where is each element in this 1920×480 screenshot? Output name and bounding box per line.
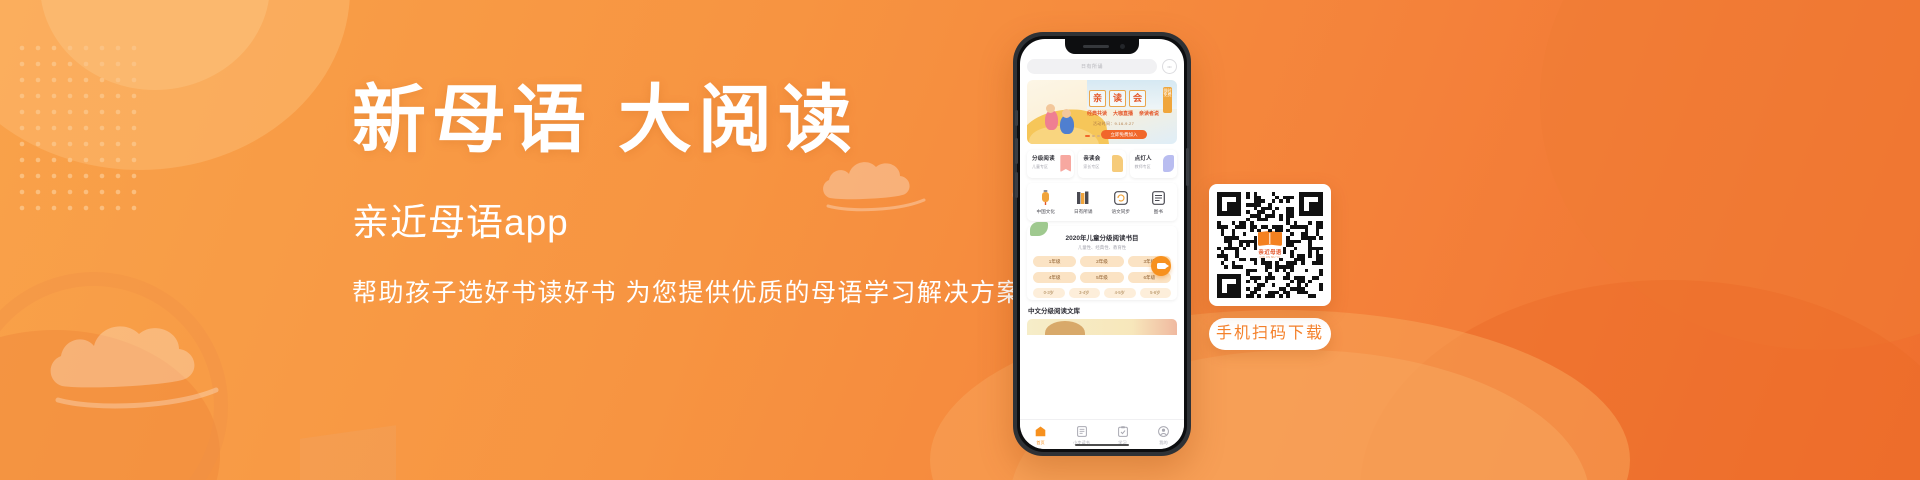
age-chip[interactable]: 5-6岁 bbox=[1140, 288, 1172, 298]
child-head-1 bbox=[1046, 104, 1055, 113]
promo-ribbon: 限时免费 bbox=[1163, 87, 1172, 113]
promo-subtitle-1: 经典共读 bbox=[1087, 110, 1107, 117]
promo-card[interactable]: 亲 读 会 限时免费 经典共读 大咖直播 亲读者说 活动时间：9.16-9.27… bbox=[1027, 80, 1177, 144]
promo-date: 活动时间：9.16-9.27 bbox=[1093, 121, 1134, 127]
quick-entry-chinese-culture[interactable]: 中国文化 bbox=[1027, 190, 1065, 215]
library-section: 中文分级阅读文库 bbox=[1027, 305, 1177, 335]
tab-reading[interactable]: 小步读书 bbox=[1061, 426, 1102, 446]
qr-finder-top-right bbox=[1299, 192, 1323, 216]
background-blob-top-left-2 bbox=[40, 0, 270, 90]
grade-chip[interactable]: 5年级 bbox=[1080, 272, 1123, 283]
booklist-title: 2020年儿童分级阅读书目 bbox=[1027, 232, 1177, 242]
page-icon bbox=[1112, 155, 1123, 172]
reading-icon bbox=[1061, 426, 1102, 438]
promo-cta-button[interactable]: 立即免费加入 bbox=[1101, 130, 1147, 139]
sync-icon bbox=[1102, 190, 1140, 206]
search-input[interactable]: 日有所诵 bbox=[1027, 59, 1157, 74]
promo-title: 亲 读 会 bbox=[1089, 90, 1146, 107]
power-button bbox=[1186, 148, 1189, 186]
quick-entry-label: 图书 bbox=[1140, 209, 1178, 215]
hero-tagline: 帮助孩子选好书读好书 为您提供优质的母语学习解决方案 bbox=[352, 277, 1032, 311]
phone-notch bbox=[1065, 39, 1139, 54]
phone-mockup: 日有所诵 ••• 亲 读 bbox=[1013, 32, 1191, 456]
home-icon bbox=[1020, 426, 1061, 438]
category-card-graded-reading[interactable]: 分级阅读 儿童专区 bbox=[1027, 150, 1074, 178]
qr-logo-name: 亲近母语 bbox=[1258, 248, 1281, 256]
quick-entry-daily-recitation[interactable]: 日有所诵 bbox=[1065, 190, 1103, 215]
headline-part-2: 大阅读 bbox=[618, 80, 858, 162]
quick-entry-textbook-sync[interactable]: 语文同步 bbox=[1102, 190, 1140, 215]
search-placeholder: 日有所诵 bbox=[1081, 63, 1103, 70]
search-bar[interactable]: 日有所诵 ••• bbox=[1027, 59, 1177, 74]
library-card[interactable] bbox=[1027, 319, 1177, 335]
booklist-subtitle: 儿童性、经典性、教育性 bbox=[1027, 245, 1177, 251]
lantern-icon bbox=[1027, 190, 1065, 206]
quick-entry-row: 中国文化 日有所诵 语文同步 bbox=[1027, 183, 1177, 221]
page-title: 新母语大阅读 bbox=[352, 84, 1032, 158]
clipboard-icon bbox=[1102, 426, 1143, 438]
category-card-teacher[interactable]: 点灯人 教师专区 bbox=[1130, 150, 1177, 178]
user-icon bbox=[1143, 426, 1184, 438]
cloud-motif-large-icon bbox=[40, 300, 230, 420]
grade-chip[interactable]: 4年级 bbox=[1033, 272, 1076, 283]
library-illustration bbox=[1045, 321, 1085, 335]
qr-code: 亲近母语 QIN JIN MU YU bbox=[1217, 192, 1323, 298]
mute-switch bbox=[1015, 110, 1018, 126]
grade-chip[interactable]: 2年级 bbox=[1080, 256, 1123, 267]
promo-title-char-3: 会 bbox=[1129, 90, 1146, 107]
promo-subtitle-2: 大咖直播 bbox=[1113, 110, 1133, 117]
volume-down-button bbox=[1015, 172, 1018, 198]
carousel-dots[interactable] bbox=[1085, 135, 1100, 137]
promo-banner: 新母语大阅读 亲近母语app 帮助孩子选好书读好书 为您提供优质的母语学习解决方… bbox=[0, 0, 1920, 480]
tab-study[interactable]: 学习 bbox=[1102, 426, 1143, 446]
leaf-icon bbox=[1163, 155, 1174, 172]
app-content: 日有所诵 ••• 亲 读 bbox=[1020, 39, 1184, 335]
hero-copy: 新母语大阅读 亲近母语app 帮助孩子选好书读好书 为您提供优质的母语学习解决方… bbox=[352, 84, 1032, 311]
volume-up-button bbox=[1015, 138, 1018, 164]
background-blob-right bbox=[1540, 0, 1920, 350]
tab-label: 首页 bbox=[1020, 440, 1061, 446]
age-chip[interactable]: 4-5岁 bbox=[1104, 288, 1136, 298]
quick-entry-books[interactable]: 图书 bbox=[1140, 190, 1178, 215]
child-illustration-1 bbox=[1045, 110, 1058, 130]
video-play-icon[interactable] bbox=[1151, 256, 1171, 276]
quick-entry-label: 中国文化 bbox=[1027, 209, 1065, 215]
earpiece-speaker bbox=[1083, 45, 1109, 48]
background-cube bbox=[300, 425, 396, 480]
app-name: 亲近母语app bbox=[352, 204, 1032, 241]
open-book-icon bbox=[1258, 231, 1282, 246]
tab-home[interactable]: 首页 bbox=[1020, 426, 1061, 446]
library-title: 中文分级阅读文库 bbox=[1027, 305, 1177, 315]
age-chip-row: 0-3岁 3-4岁 4-5岁 5-6岁 bbox=[1027, 288, 1177, 298]
category-cards: 分级阅读 儿童专区 亲读会 家长专区 点灯人 教师专区 bbox=[1027, 150, 1177, 178]
download-button[interactable]: 手机扫码下载 bbox=[1209, 318, 1331, 350]
age-chip[interactable]: 3-4岁 bbox=[1069, 288, 1101, 298]
qr-block: 亲近母语 QIN JIN MU YU 手机扫码下载 bbox=[1209, 184, 1331, 350]
phone-screen: 日有所诵 ••• 亲 读 bbox=[1020, 39, 1184, 449]
book-stack-icon bbox=[1065, 190, 1103, 206]
tab-profile[interactable]: 我的 bbox=[1143, 426, 1184, 446]
qr-finder-bottom-left bbox=[1217, 274, 1241, 298]
age-chip[interactable]: 0-3岁 bbox=[1033, 288, 1065, 298]
promo-subtitles: 经典共读 大咖直播 亲读者说 bbox=[1087, 110, 1159, 117]
phone-bezel: 日有所诵 ••• 亲 读 bbox=[1017, 36, 1187, 452]
background-dot-grid bbox=[14, 40, 142, 220]
category-card-parent-club[interactable]: 亲读会 家长专区 bbox=[1078, 150, 1125, 178]
book-icon bbox=[1140, 190, 1178, 206]
quick-entry-label: 语文同步 bbox=[1102, 209, 1140, 215]
qr-card[interactable]: 亲近母语 QIN JIN MU YU bbox=[1209, 184, 1331, 306]
home-indicator bbox=[1075, 444, 1129, 447]
grade-chip[interactable]: 1年级 bbox=[1033, 256, 1076, 267]
background-blob-top-left bbox=[0, 0, 350, 170]
child-head-2 bbox=[1062, 109, 1071, 118]
more-dots-icon[interactable]: ••• bbox=[1162, 59, 1177, 74]
headline-part-1: 新母语 bbox=[352, 80, 592, 162]
front-camera-icon bbox=[1120, 44, 1125, 49]
booklist-card[interactable]: 2020年儿童分级阅读书目 儿童性、经典性、教育性 1年级 2年级 3年级 4年… bbox=[1027, 226, 1177, 300]
qr-finder-top-left bbox=[1217, 192, 1241, 216]
quick-entry-label: 日有所诵 bbox=[1065, 209, 1103, 215]
background-blob-right-bottom bbox=[1360, 280, 1920, 480]
promo-subtitle-3: 亲读者说 bbox=[1139, 110, 1159, 117]
tab-label: 我的 bbox=[1143, 440, 1184, 446]
promo-title-char-1: 亲 bbox=[1089, 90, 1106, 107]
promo-title-char-2: 读 bbox=[1109, 90, 1126, 107]
